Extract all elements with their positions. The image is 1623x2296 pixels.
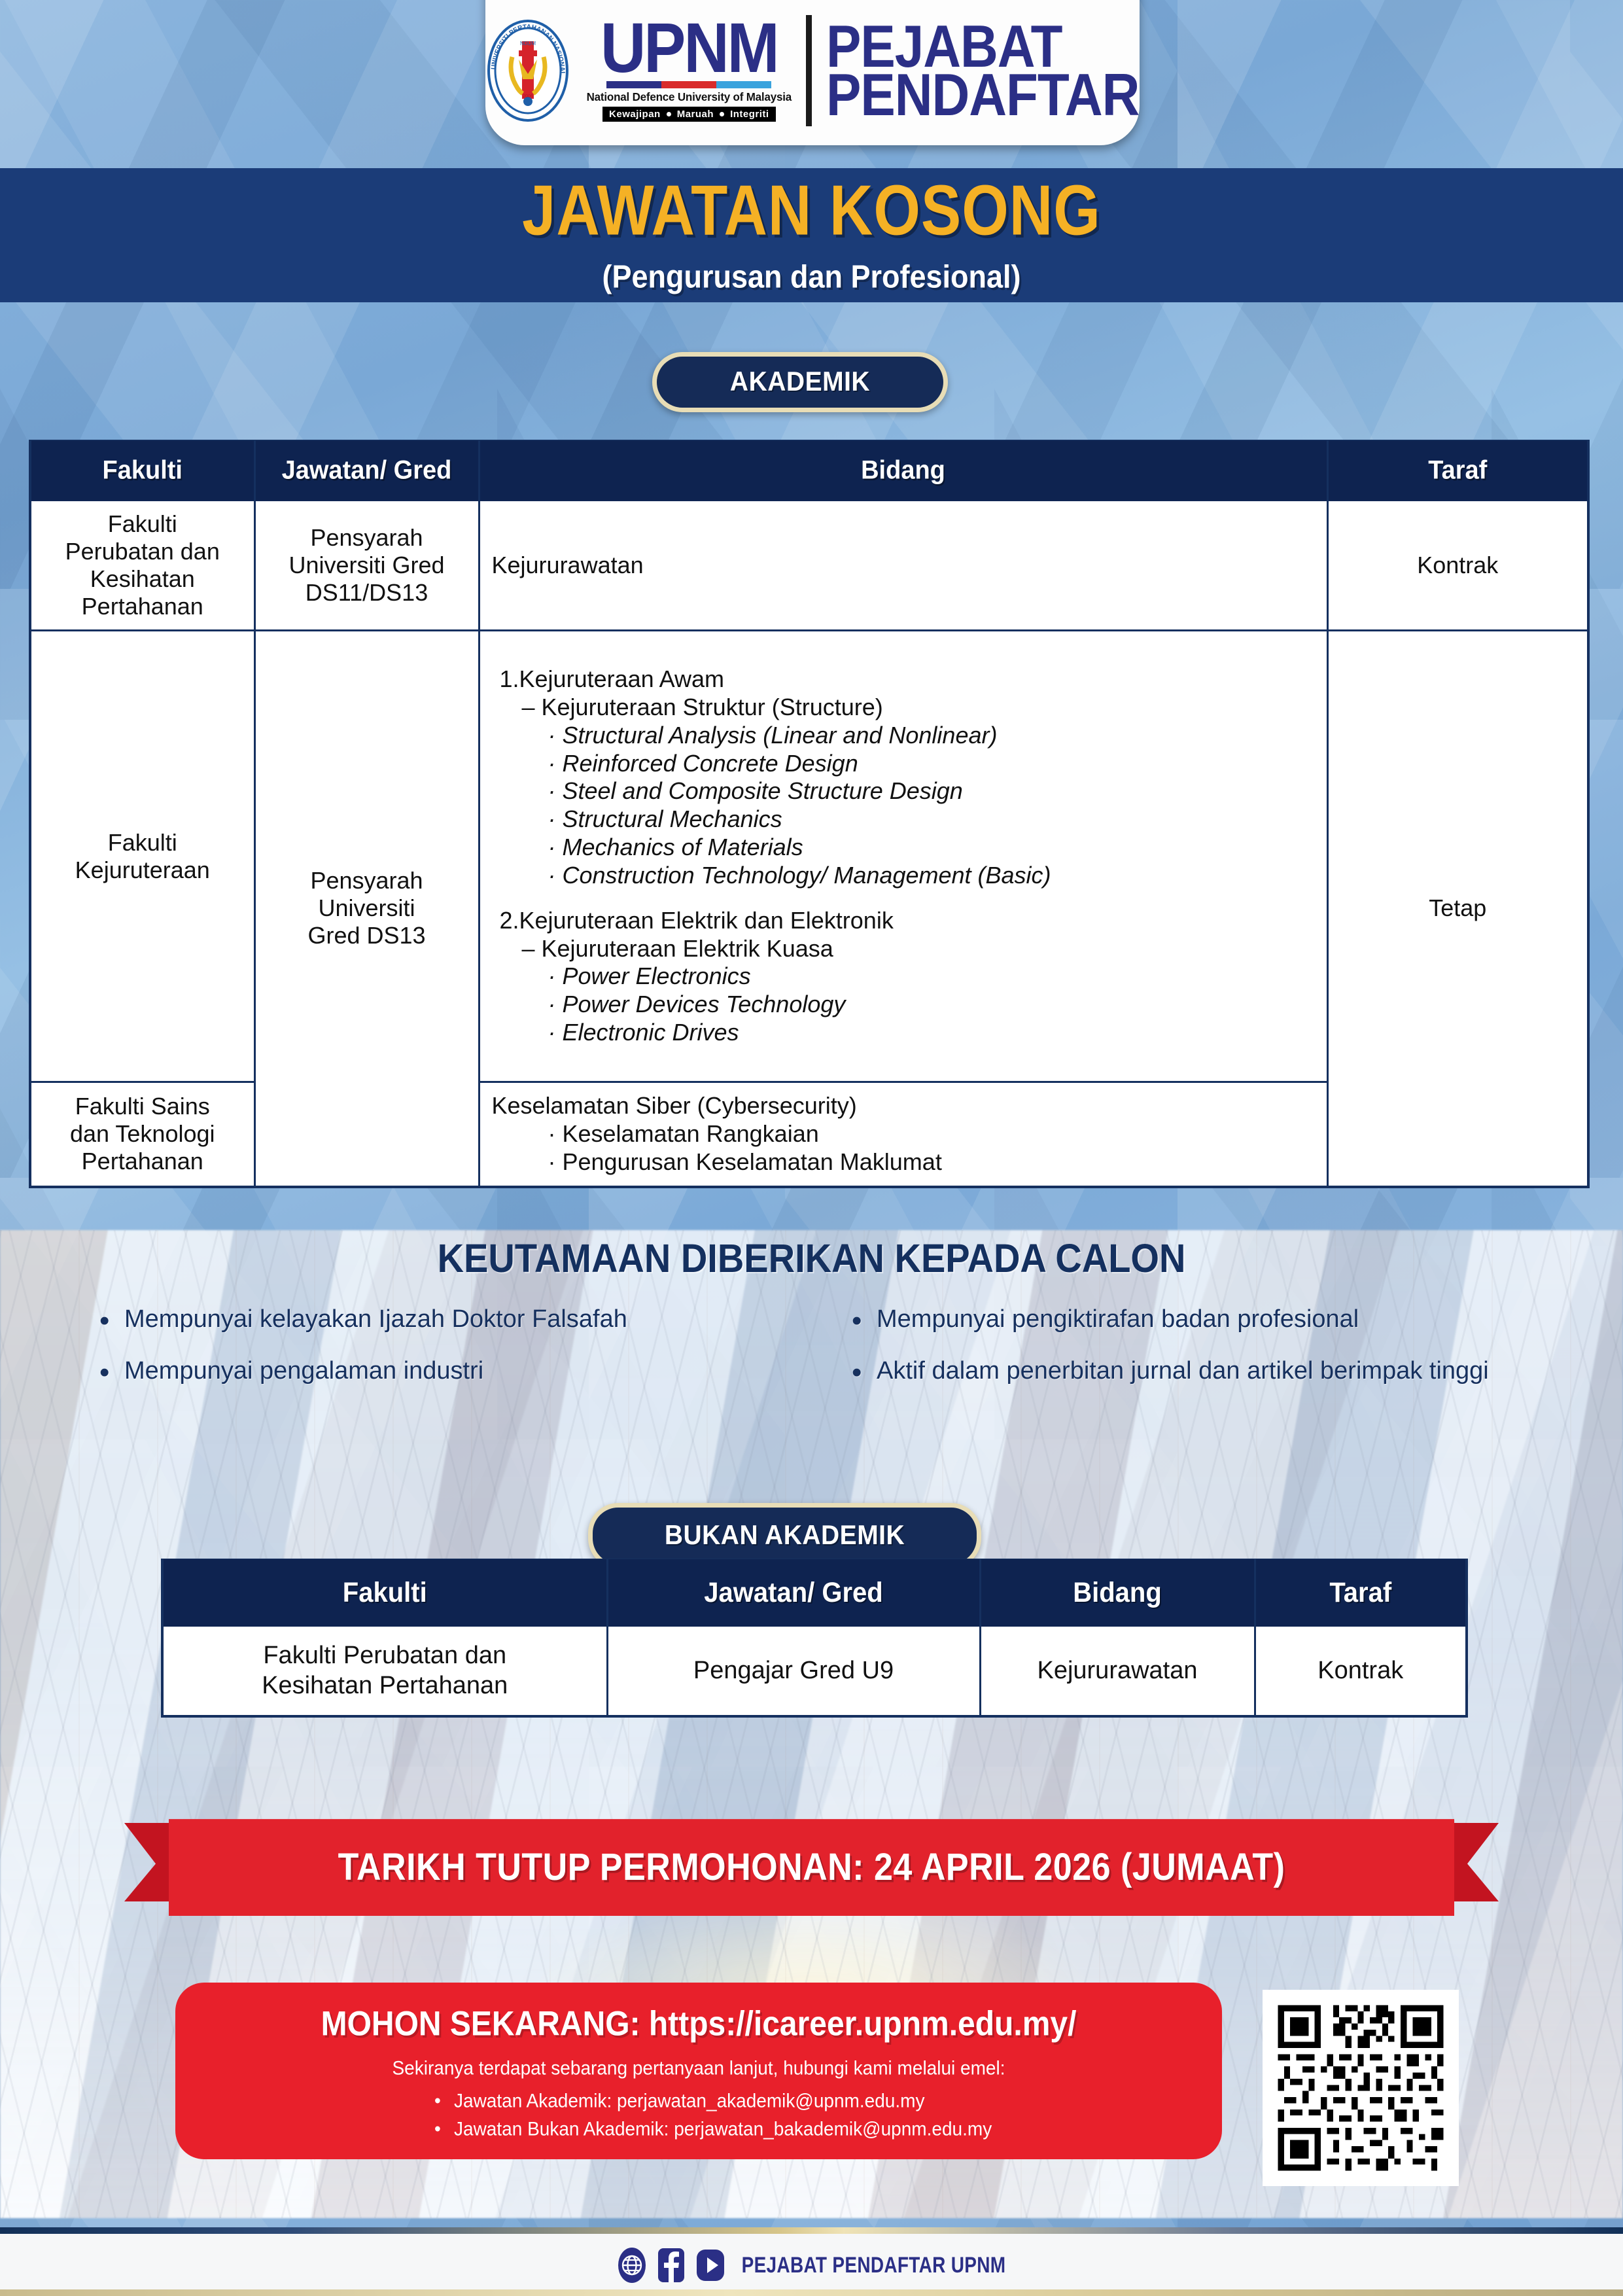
table-row: FakultiKejuruteraan PensyarahUniversitiG… bbox=[30, 631, 1588, 1082]
section-badge-akademik: AKADEMIK bbox=[652, 352, 948, 412]
page-subtitle: (Pengurusan dan Profesional) bbox=[602, 258, 1021, 295]
bidang-cyber: Keselamatan Siber (Cybersecurity) · Kese… bbox=[492, 1092, 1315, 1176]
apply-heading-label: MOHON SEKARANG: bbox=[321, 2005, 640, 2043]
table-row: Fakulti Perubatan danKesihatan Pertahana… bbox=[162, 1626, 1467, 1717]
cell-fakulti: Fakulti Sainsdan TeknologiPertahanan bbox=[30, 1082, 254, 1187]
bidang-item: · Structural Analysis (Linear and Nonlin… bbox=[492, 722, 1315, 750]
keutamaan-column-right: Mempunyai pengiktirafan badan profesiona… bbox=[844, 1299, 1550, 1402]
keutamaan-columns: Mempunyai kelayakan Ijazah Doktor Falsaf… bbox=[92, 1299, 1550, 1402]
bidang-group-subtitle: – Kejuruteraan Struktur (Structure) bbox=[492, 694, 1315, 722]
brand-divider bbox=[806, 15, 812, 126]
motto-dot-icon bbox=[720, 112, 724, 116]
cell-fakulti: FakultiKejuruteraan bbox=[30, 631, 254, 1082]
bidang-item: · Power Devices Technology bbox=[492, 991, 1315, 1019]
keutamaan-item: Mempunyai kelayakan Ijazah Doktor Falsaf… bbox=[92, 1299, 798, 1340]
deadline-ribbon: TARIKH TUTUP PERMOHONAN: 24 APRIL 2026 (… bbox=[0, 1806, 1623, 1930]
apply-contact-item[interactable]: Jawatan Akademik: perjawatan_akademik@up… bbox=[430, 2086, 1183, 2116]
bidang-item: · Structural Mechanics bbox=[492, 805, 1315, 834]
bidang-item: · Keselamatan Rangkaian bbox=[492, 1120, 1315, 1148]
brand-header-card: NDUM 2006 UNIVERSITI PERTAHANAN NASIONAL… bbox=[485, 0, 1140, 145]
cell-jawatan: PensyarahUniversitiGred DS13 bbox=[254, 631, 479, 1187]
column-header-jawatan: Jawatan/ Gred bbox=[254, 439, 479, 502]
column-header-bidang: Bidang bbox=[980, 1558, 1255, 1628]
column-header-jawatan: Jawatan/ Gred bbox=[607, 1558, 980, 1628]
table-header-row: Fakulti Jawatan/ Gred Bidang Taraf bbox=[30, 441, 1588, 501]
column-header-taraf: Taraf bbox=[1255, 1558, 1467, 1628]
cell-bidang: Kejururawatan bbox=[479, 501, 1327, 631]
office-name: PEJABAT PENDAFTAR bbox=[826, 22, 1139, 118]
keutamaan-heading: KEUTAMAAN DIBERIKAN KEPADA CALON bbox=[0, 1235, 1623, 1282]
bidang-group-subtitle: – Kejuruteraan Elektrik Kuasa bbox=[492, 935, 1315, 963]
bidang-group-spacer bbox=[492, 890, 1315, 907]
keutamaan-column-left: Mempunyai kelayakan Ijazah Doktor Falsaf… bbox=[92, 1299, 798, 1402]
cell-fakulti: FakultiPerubatan danKesihatanPertahanan bbox=[30, 501, 254, 631]
bidang-item: · Steel and Composite Structure Design bbox=[492, 777, 1315, 805]
bidang-cyber-title: Keselamatan Siber (Cybersecurity) bbox=[492, 1092, 1315, 1120]
globe-icon[interactable] bbox=[618, 2247, 646, 2284]
footer-gold-strip bbox=[0, 2289, 1623, 2296]
cell-jawatan: PensyarahUniversiti GredDS11/DS13 bbox=[254, 501, 479, 631]
footer-label: PEJABAT PENDAFTAR UPNM bbox=[742, 2252, 1006, 2278]
bukan-akademik-vacancy-table: Fakulti Jawatan/ Gred Bidang Taraf Fakul… bbox=[161, 1559, 1468, 1718]
brand-wordmark: UPNM National Defence University of Mala… bbox=[587, 15, 1140, 126]
office-line-2: PENDAFTAR bbox=[826, 67, 1139, 122]
qr-code[interactable] bbox=[1263, 1990, 1459, 2186]
brand-acronym: UPNM bbox=[601, 16, 778, 81]
apply-contact-list: Jawatan Akademik: perjawatan_akademik@up… bbox=[430, 2087, 1183, 2144]
apply-heading: MOHON SEKARANG: https://icareer.upnm.edu… bbox=[215, 2004, 1183, 2044]
apply-panel: MOHON SEKARANG: https://icareer.upnm.edu… bbox=[175, 1983, 1222, 2159]
university-crest-icon: NDUM 2006 UNIVERSITI PERTAHANAN NASIONAL… bbox=[486, 19, 570, 122]
keutamaan-item: Mempunyai pengiktirafan badan profesiona… bbox=[844, 1299, 1550, 1340]
ribbon-body: TARIKH TUTUP PERMOHONAN: 24 APRIL 2026 (… bbox=[169, 1806, 1454, 1916]
bidang-item: · Pengurusan Keselamatan Maklumat bbox=[492, 1148, 1315, 1176]
youtube-icon[interactable] bbox=[696, 2247, 725, 2284]
facebook-icon[interactable] bbox=[657, 2247, 686, 2284]
section-badge-akademik-label: AKADEMIK bbox=[730, 366, 870, 398]
section-badge-bukan-akademik-label: BUKAN AKADEMIK bbox=[665, 1520, 905, 1551]
svg-text:NDUM: NDUM bbox=[520, 41, 536, 46]
bidang-item: · Reinforced Concrete Design bbox=[492, 750, 1315, 778]
footer-divider bbox=[0, 2227, 1623, 2234]
akademik-vacancy-table: Fakulti Jawatan/ Gred Bidang Taraf Fakul… bbox=[29, 440, 1590, 1188]
apply-note: Sekiranya terdapat sebarang pertanyaan l… bbox=[215, 2057, 1183, 2079]
motto-word-1: Kewajipan bbox=[609, 109, 661, 120]
column-header-bidang: Bidang bbox=[479, 439, 1327, 502]
apply-contact-item[interactable]: Jawatan Bukan Akademik: perjawatan_bakad… bbox=[430, 2114, 1183, 2144]
poster-title-band: JAWATAN KOSONG (Pengurusan dan Profesion… bbox=[0, 168, 1623, 302]
bidang-item: · Construction Technology/ Management (B… bbox=[492, 862, 1315, 890]
deadline-text: TARIKH TUTUP PERMOHONAN: 24 APRIL 2026 (… bbox=[338, 1832, 1285, 1889]
table-row: FakultiPerubatan danKesihatanPertahanan … bbox=[30, 501, 1588, 631]
bidang-item: · Electronic Drives bbox=[492, 1019, 1315, 1047]
qr-code-icon bbox=[1272, 1999, 1450, 2177]
svg-text:2006: 2006 bbox=[523, 94, 533, 99]
keutamaan-item: Mempunyai pengalaman industri bbox=[92, 1351, 798, 1392]
keutamaan-item: Aktif dalam penerbitan jurnal dan artike… bbox=[844, 1351, 1550, 1392]
brand-motto: Kewajipan Maruah Integriti bbox=[602, 107, 776, 122]
motto-word-3: Integriti bbox=[730, 109, 769, 120]
bidang-cyber-items: · Keselamatan Rangkaian· Pengurusan Kese… bbox=[492, 1120, 1315, 1176]
column-header-fakulti: Fakulti bbox=[162, 1558, 607, 1628]
bidang-group-title: 1.Kejuruteraan Awam bbox=[492, 665, 1315, 694]
bidang-cyber-title-text: Keselamatan Siber (Cybersecurity) bbox=[492, 1092, 857, 1119]
cell-bidang: 1.Kejuruteraan Awam– Kejuruteraan Strukt… bbox=[479, 631, 1327, 1082]
cell-fakulti: Fakulti Perubatan danKesihatan Pertahana… bbox=[162, 1626, 607, 1717]
page-title: JAWATAN KOSONG bbox=[522, 171, 1101, 252]
cell-bidang: Keselamatan Siber (Cybersecurity) · Kese… bbox=[479, 1082, 1327, 1187]
cell-bidang: Kejururawatan bbox=[980, 1626, 1255, 1717]
table-header-row: Fakulti Jawatan/ Gred Bidang Taraf bbox=[162, 1560, 1467, 1626]
bidang-item: · Power Electronics bbox=[492, 963, 1315, 991]
column-header-taraf: Taraf bbox=[1327, 439, 1588, 502]
motto-word-2: Maruah bbox=[677, 109, 714, 120]
cell-taraf: Tetap bbox=[1327, 631, 1588, 1187]
apply-url[interactable]: https://icareer.upnm.edu.my/ bbox=[649, 2005, 1076, 2043]
cell-taraf: Kontrak bbox=[1327, 501, 1588, 631]
brand-subtitle: National Defence University of Malaysia bbox=[587, 91, 792, 105]
column-header-fakulti: Fakulti bbox=[30, 439, 254, 502]
bidang-group-title: 2.Kejuruteraan Elektrik dan Elektronik bbox=[492, 907, 1315, 935]
bidang-item: · Mechanics of Materials bbox=[492, 834, 1315, 862]
cell-taraf: Kontrak bbox=[1255, 1626, 1467, 1717]
bidang-list: 1.Kejuruteraan Awam– Kejuruteraan Strukt… bbox=[492, 665, 1315, 1047]
footer-bar: PEJABAT PENDAFTAR UPNM bbox=[0, 2234, 1623, 2296]
motto-dot-icon bbox=[667, 112, 671, 116]
cell-jawatan: Pengajar Gred U9 bbox=[607, 1626, 980, 1717]
